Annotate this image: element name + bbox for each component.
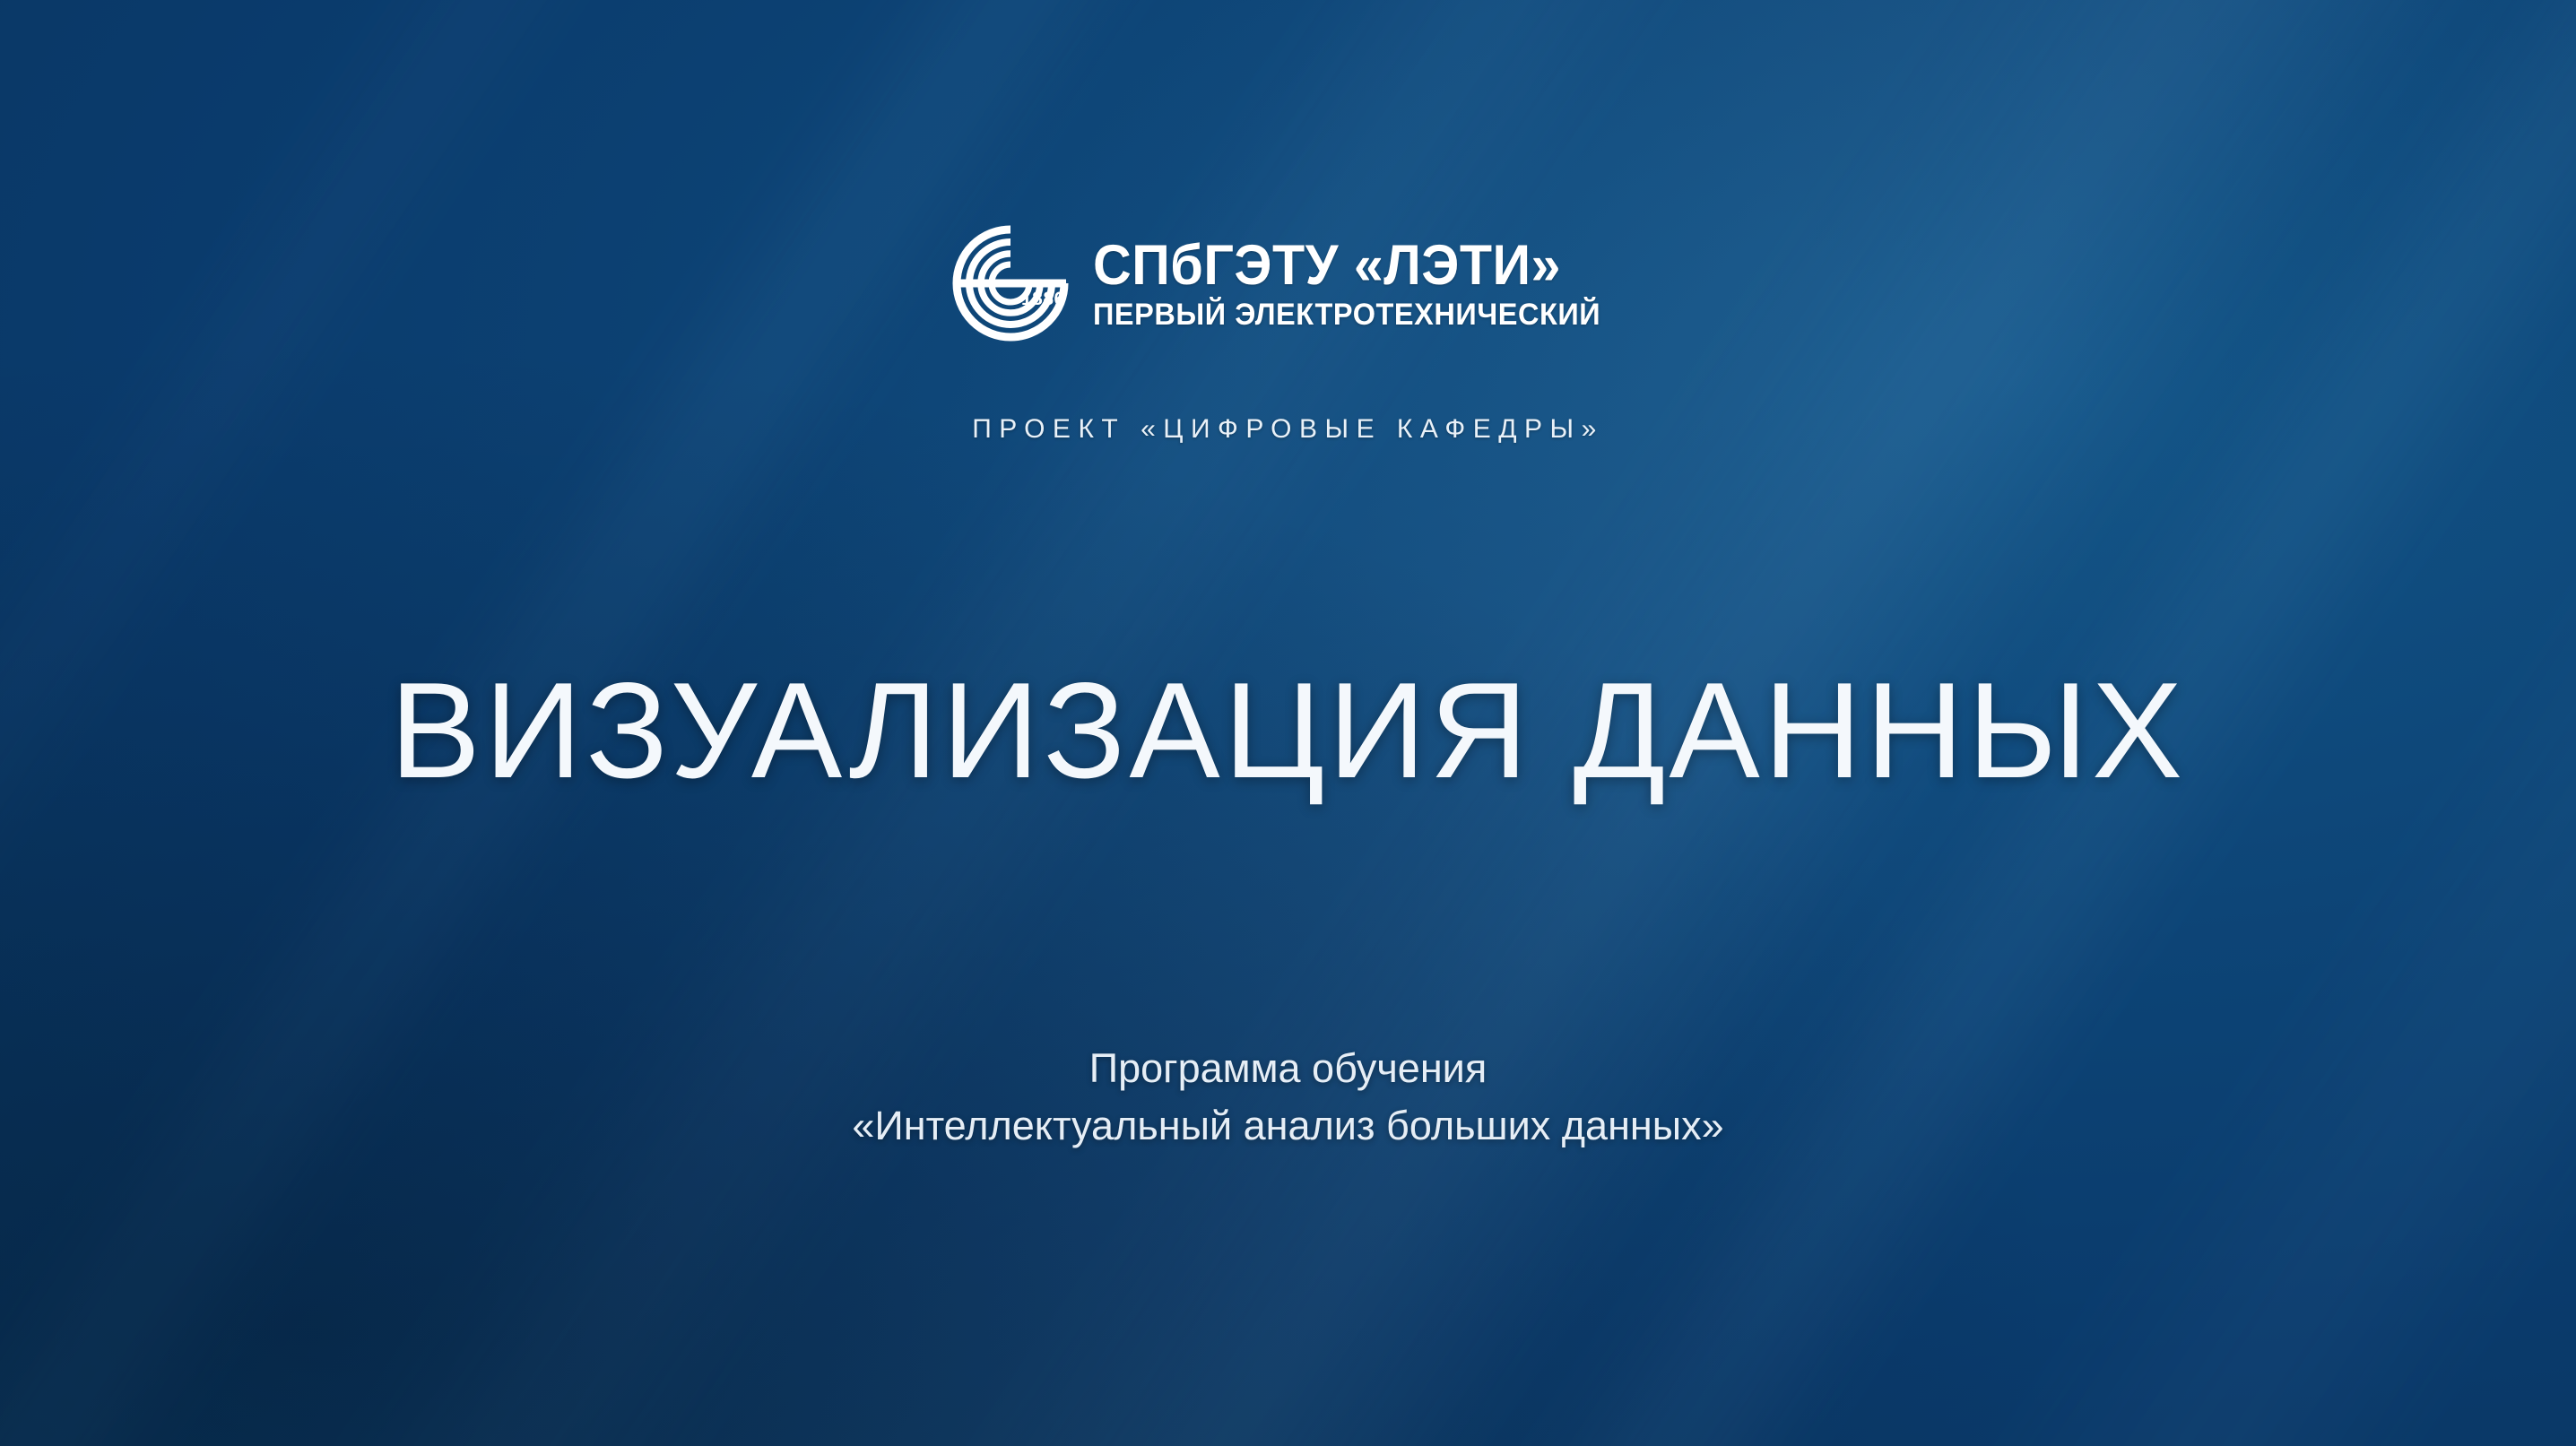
program-subtitle: Программа обучения «Интеллектуальный ана…: [0, 1040, 2576, 1155]
brand-text-block: СПбГЭТУ «ЛЭТИ» ПЕРВЫЙ ЭЛЕКТРОТЕХНИЧЕСКИЙ: [1093, 238, 1625, 330]
brand-lockup-inner: 1886 СПбГЭТУ «ЛЭТИ» ПЕРВЫЙ ЭЛЕКТРОТЕХНИЧ…: [951, 224, 1625, 342]
brand-tagline: ПЕРВЫЙ ЭЛЕКТРОТЕХНИЧЕСКИЙ: [1093, 299, 1600, 330]
page-title: ВИЗУАЛИЗАЦИЯ ДАННЫХ: [0, 662, 2576, 799]
leti-e-emblem-icon: 1886: [951, 224, 1070, 342]
brand-lockup: 1886 СПбГЭТУ «ЛЭТИ» ПЕРВЫЙ ЭЛЕКТРОТЕХНИЧ…: [0, 224, 2576, 342]
slide-content: 1886 СПбГЭТУ «ЛЭТИ» ПЕРВЫЙ ЭЛЕКТРОТЕХНИЧ…: [0, 0, 2576, 1446]
emblem-year-text: 1886: [1021, 289, 1065, 309]
title-slide: 1886 СПбГЭТУ «ЛЭТИ» ПЕРВЫЙ ЭЛЕКТРОТЕХНИЧ…: [0, 0, 2576, 1446]
program-subtitle-line-2: «Интеллектуальный анализ больших данных»: [0, 1097, 2576, 1155]
project-label: ПРОЕКТ «ЦИФРОВЫЕ КАФЕДРЫ»: [0, 414, 2576, 445]
program-subtitle-line-1: Программа обучения: [0, 1040, 2576, 1097]
brand-name: СПбГЭТУ «ЛЭТИ»: [1093, 238, 1592, 294]
